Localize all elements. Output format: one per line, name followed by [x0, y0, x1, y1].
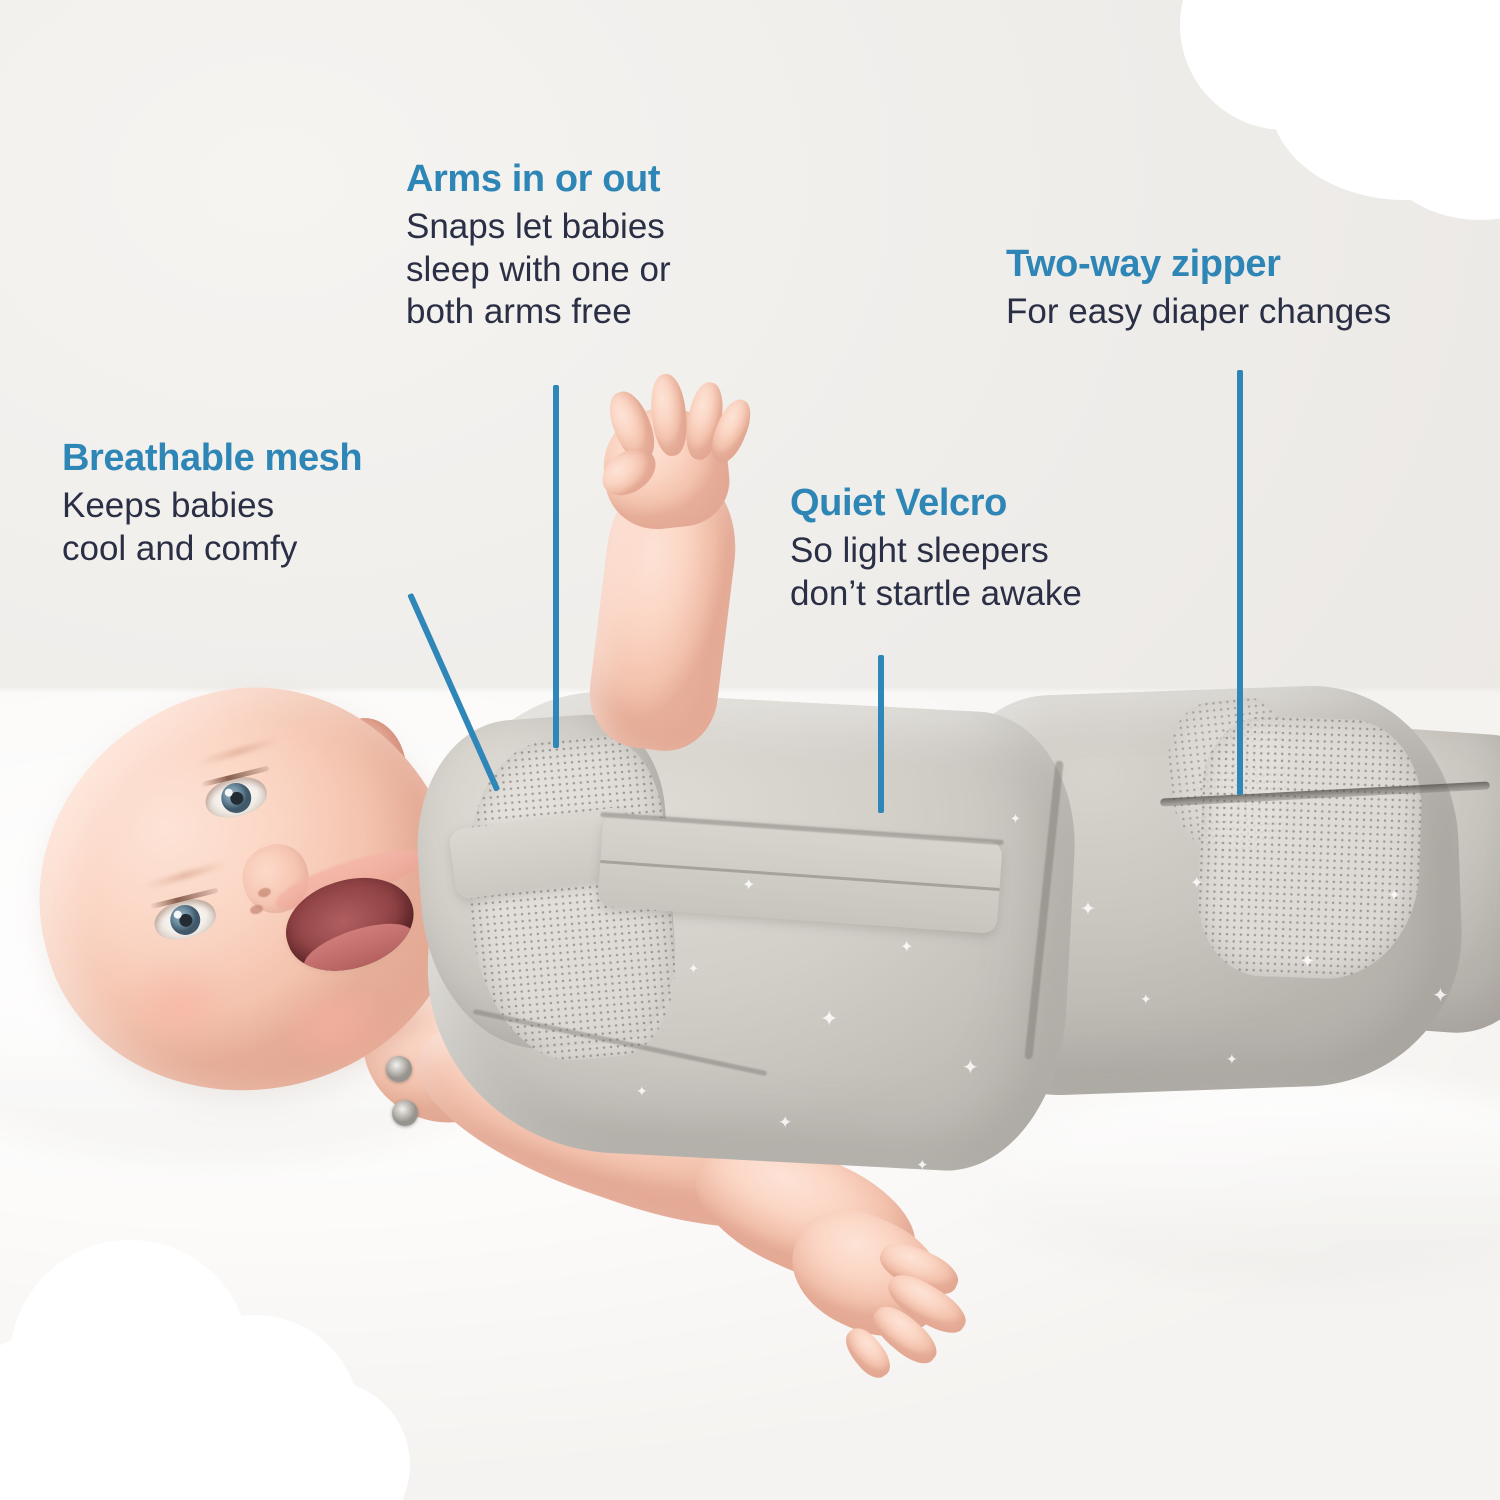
infographic-canvas: ✦ ✦ ✦ ✦ ✦ ✦ ✦ ✦ ✦ ✦ ✦ ✦ ✦ ✦ ✦ ✦ [0, 0, 1500, 1500]
callout-arms-in-or-out: Arms in or out Snaps let babies sleep wi… [406, 158, 671, 334]
leader-line-quiet-velcro [878, 655, 884, 813]
callout-breathable-mesh: Breathable mesh Keeps babies cool and co… [62, 437, 362, 570]
callout-heading: Two-way zipper [1006, 243, 1391, 286]
callout-body: Snaps let babies sleep with one or both … [406, 206, 671, 334]
callout-body: So light sleepers don’t startle awake [790, 530, 1082, 615]
cloud-top-right [1120, 0, 1500, 210]
callout-heading: Breathable mesh [62, 437, 362, 480]
callout-heading: Quiet Velcro [790, 482, 1082, 525]
callout-two-way-zipper: Two-way zipper For easy diaper changes [1006, 243, 1391, 334]
callout-body: Keeps babies cool and comfy [62, 485, 362, 570]
cloud-bottom-left [0, 1230, 410, 1500]
leader-line-arms-in-or-out [553, 385, 559, 748]
callout-quiet-velcro: Quiet Velcro So light sleepers don’t sta… [790, 482, 1082, 615]
leader-line-two-way-zipper [1237, 370, 1243, 795]
callout-body: For easy diaper changes [1006, 291, 1391, 334]
callout-heading: Arms in or out [406, 158, 671, 201]
